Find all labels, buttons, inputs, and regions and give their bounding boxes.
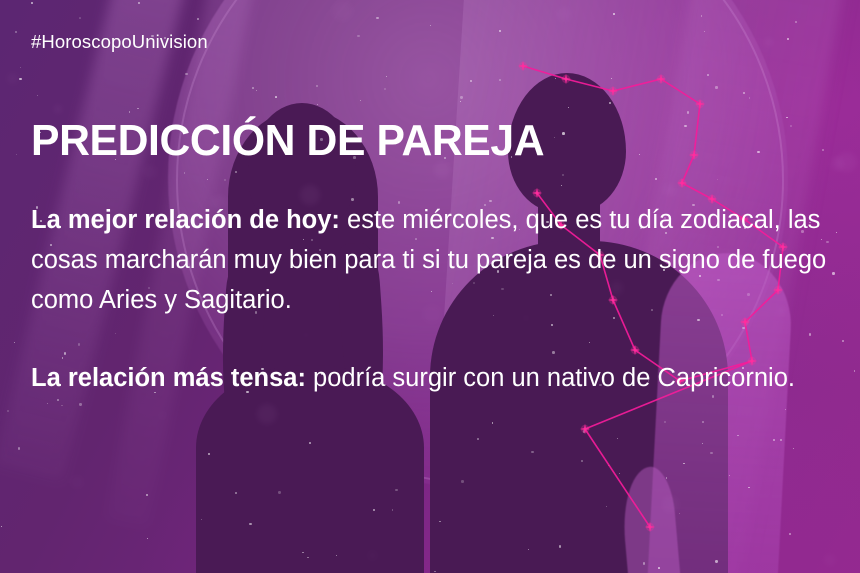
card-content: #HoroscopoUnivision PREDICCIÓN DE PAREJA…	[0, 0, 860, 573]
horoscope-body: La mejor relación de hoy: este miércoles…	[31, 200, 841, 398]
paragraph-lead: La mejor relación de hoy:	[31, 206, 340, 234]
horoscope-paragraph: La relación más tensa: podría surgir con…	[31, 358, 841, 398]
horoscope-paragraph: La mejor relación de hoy: este miércoles…	[31, 200, 841, 320]
hashtag-label: #HoroscopoUnivision	[31, 31, 208, 53]
paragraph-lead: La relación más tensa:	[31, 364, 306, 392]
horoscope-card: #HoroscopoUnivision PREDICCIÓN DE PAREJA…	[0, 0, 860, 573]
page-title: PREDICCIÓN DE PAREJA	[31, 119, 544, 163]
